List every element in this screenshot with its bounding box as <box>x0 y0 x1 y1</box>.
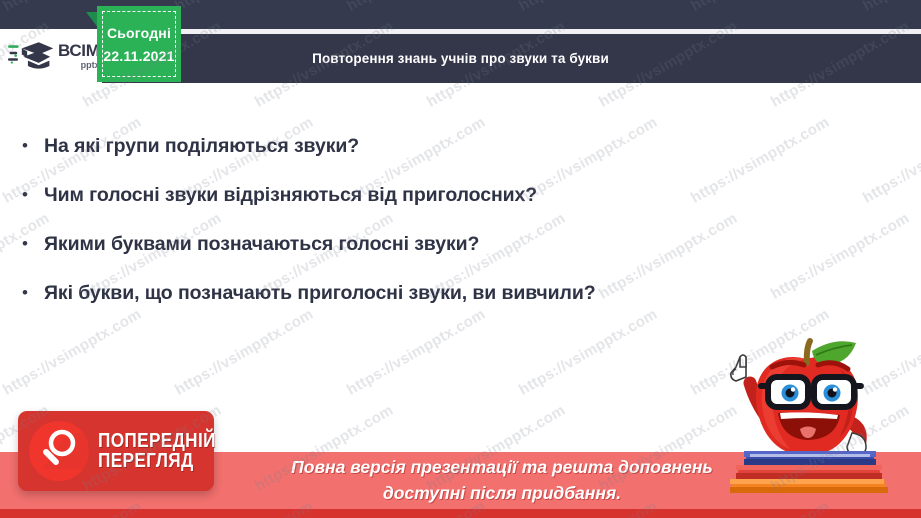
magnifier-icon <box>29 421 89 481</box>
list-item-label: Чим голосні звуки відрізняються від приг… <box>44 181 537 209</box>
list-item: • Чим голосні звуки відрізняються від пр… <box>18 181 778 209</box>
banner-message-line1: Повна версія презентації та решта доповн… <box>232 454 772 480</box>
preview-badge-line2: ПЕРЕГЛЯД <box>98 451 216 471</box>
date-badge: Сьогодні 22.11.2021 <box>97 6 181 82</box>
list-item-label: Які букви, що позначають приголосні звук… <box>44 279 596 307</box>
preview-badge[interactable]: ПОПЕРЕДНІЙ ПЕРЕГЛЯД <box>18 411 214 491</box>
list-item: • Які букви, що позначають приголосні зв… <box>18 279 778 307</box>
bullet-list: • На які групи поділяються звуки? • Чим … <box>18 132 778 328</box>
banner-message-line2: доступні після придбання. <box>232 480 772 506</box>
bullet-marker-icon: • <box>18 181 44 209</box>
list-item-label: Якими буквами позначаються голосні звуки… <box>44 230 479 258</box>
preview-badge-line1: ПОПЕРЕДНІЙ <box>98 431 216 451</box>
date-badge-value: 22.11.2021 <box>103 48 174 64</box>
date-badge-label: Сьогодні <box>107 25 171 41</box>
watermark-text: https://vsimpptx.com <box>860 114 921 207</box>
banner-message: Повна версія презентації та решта доповн… <box>232 454 772 506</box>
list-item: • Якими буквами позначаються голосні зву… <box>18 230 778 258</box>
watermark-text: https://vsimpptx.com <box>768 210 912 303</box>
bullet-marker-icon: • <box>18 132 44 160</box>
list-item: • На які групи поділяються звуки? <box>18 132 778 160</box>
apple-character-with-books-image <box>706 333 911 493</box>
list-item-label: На які групи поділяються звуки? <box>44 132 359 160</box>
banner-bottom-strip <box>0 509 921 518</box>
preview-badge-text: ПОПЕРЕДНІЙ ПЕРЕГЛЯД <box>98 431 235 472</box>
bullet-marker-icon: • <box>18 230 44 258</box>
presentation-slide: Повторення знань учнів про звуки та букв… <box>0 0 921 518</box>
bullet-marker-icon: • <box>18 279 44 307</box>
